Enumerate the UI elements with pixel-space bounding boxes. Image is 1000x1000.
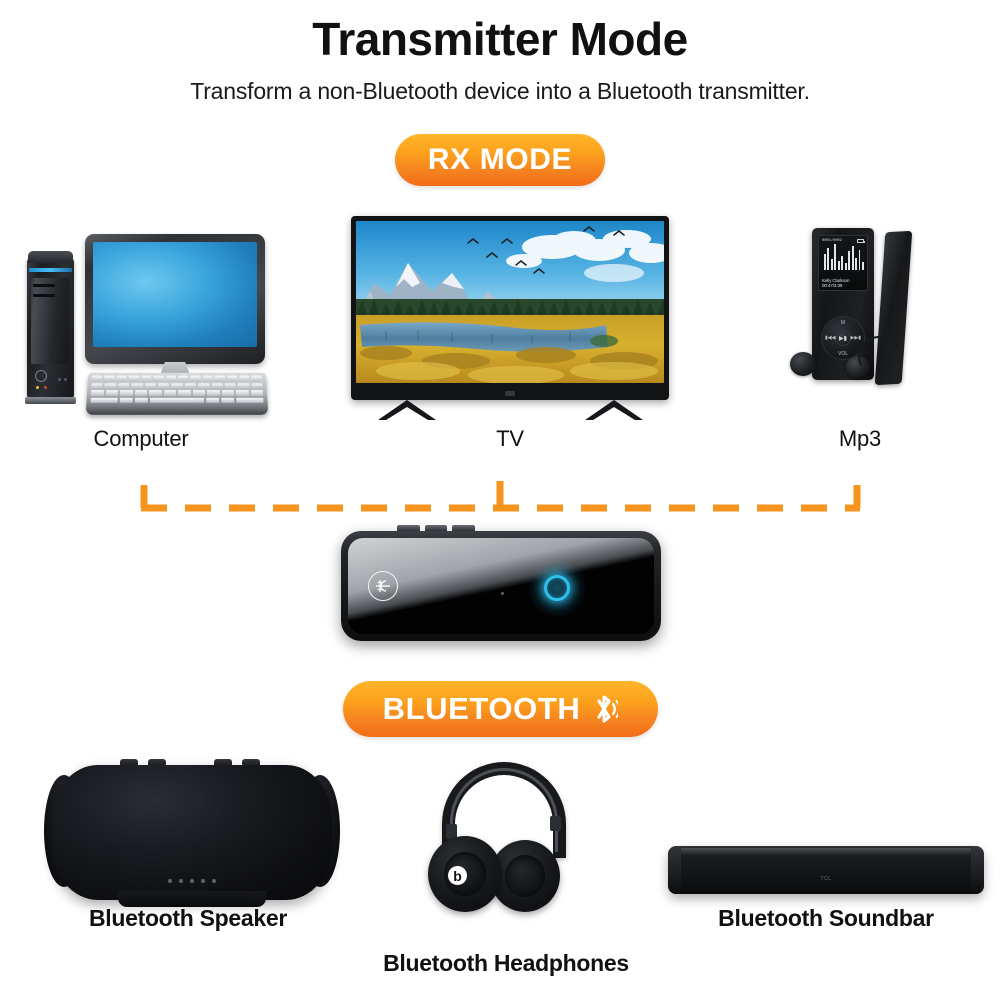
bluetooth-speaker-icon (52, 765, 332, 900)
source-label-tv: TV (410, 426, 610, 452)
pc-led-amber (36, 386, 39, 389)
pc-power-button-icon (35, 370, 47, 382)
output-label-speaker: Bluetooth Speaker (38, 905, 338, 932)
led-ring (544, 575, 570, 601)
power-led-ring-icon[interactable] (540, 571, 574, 605)
output-label-headphones: Bluetooth Headphones (356, 950, 656, 977)
mp3-screen: 0001/0002 Kelly Clarkson 00:47/3:39 (818, 235, 868, 291)
pc-tower-base (25, 397, 76, 404)
rx-mode-badge: RX MODE (395, 134, 605, 186)
pc-drive-slot (33, 294, 55, 297)
battery-icon (857, 239, 864, 243)
bluetooth-icon (592, 692, 618, 726)
keyboard-keys (90, 376, 263, 403)
brand-glyph (373, 576, 393, 596)
headphones-earcup-left: b (428, 836, 502, 912)
soundbar-top-highlight (676, 848, 976, 855)
adapter-shell (341, 531, 661, 641)
keyboard-row (92, 376, 262, 381)
mp3-time-label: 00:47/3:39 (822, 283, 866, 288)
keyboard-row (91, 383, 262, 388)
speaker-battery-leds (168, 879, 216, 883)
page-title: Transmitter Mode (0, 14, 1000, 65)
mp3-track-counter: 0001/0002 (822, 239, 842, 243)
monitor-bezel (85, 234, 265, 364)
rx-mode-badge-label: RX MODE (428, 143, 572, 177)
pc-led-red (44, 386, 47, 389)
headphones-slider-right[interactable] (550, 816, 561, 831)
soundbar-brand-logo: TCL (821, 876, 832, 882)
brand-circle-logo-icon (368, 571, 398, 601)
monitor-screen (93, 242, 257, 347)
mp3-volume-label: VOL (838, 351, 848, 357)
mp3-status-bar: 0001/0002 (819, 237, 867, 244)
tv-landscape-image (356, 221, 664, 383)
keyboard-row (90, 397, 263, 402)
earbud-left-icon (790, 352, 816, 376)
monitor-icon (85, 234, 265, 364)
pc-port (64, 378, 67, 381)
pc-port (58, 378, 61, 381)
source-label-mp3: Mp3 (770, 426, 950, 452)
mp3-player-icon: 0001/0002 Kelly Clarkson 00:47/3:39 M ▮◀… (788, 228, 938, 413)
bluetooth-transmitter-adapter (341, 531, 661, 641)
keyboard-icon (86, 373, 269, 415)
pc-tower-front-panel (31, 278, 69, 364)
speaker-body (52, 765, 332, 900)
soundbar-end-cap-right (971, 846, 984, 894)
adapter-microphone-hole (501, 592, 504, 595)
output-label-soundbar: Bluetooth Soundbar (676, 905, 976, 932)
keyboard-row (91, 390, 263, 395)
bluetooth-badge-label: BLUETOOTH (383, 691, 581, 727)
pc-tower-top (28, 251, 73, 263)
headphones-earpad-right (505, 855, 546, 897)
tv-icon (351, 216, 669, 400)
infographic-page: Transmitter Mode Transform a non-Bluetoo… (0, 0, 1000, 1000)
previous-track-icon[interactable]: ▮◀◀ (825, 335, 835, 341)
tv-screen (356, 221, 664, 383)
pc-tower-accent-stripe (29, 268, 72, 272)
tv-brand-logo (505, 391, 515, 396)
bluetooth-badge: BLUETOOTH (343, 681, 658, 737)
soundbar-end-cap-left (668, 846, 681, 894)
bluetooth-headphones-icon: b (428, 762, 588, 912)
pc-drive-slot (33, 284, 55, 287)
adapter-face (348, 538, 654, 634)
bluetooth-soundbar-icon: TCL (668, 846, 984, 894)
soundbar-body: TCL (668, 846, 984, 894)
page-subtitle: Transform a non-Bluetooth device into a … (0, 78, 1000, 105)
headphones-brand-logo: b (448, 866, 467, 885)
tv-leg-left (376, 398, 438, 420)
monitor-neck (152, 362, 198, 396)
pc-tower-icon (27, 258, 74, 398)
monitor-foot (118, 393, 234, 407)
source-label-computer: Computer (45, 426, 237, 452)
tv-leg-right (583, 398, 645, 420)
play-pause-icon[interactable]: ▶▮ (835, 330, 851, 346)
next-track-icon[interactable]: ▶▶▮ (851, 335, 861, 341)
mp3-now-playing: Kelly Clarkson 00:47/3:39 (822, 278, 866, 288)
mp3-equalizer (824, 244, 864, 270)
mp3-menu-label: M (841, 320, 845, 326)
